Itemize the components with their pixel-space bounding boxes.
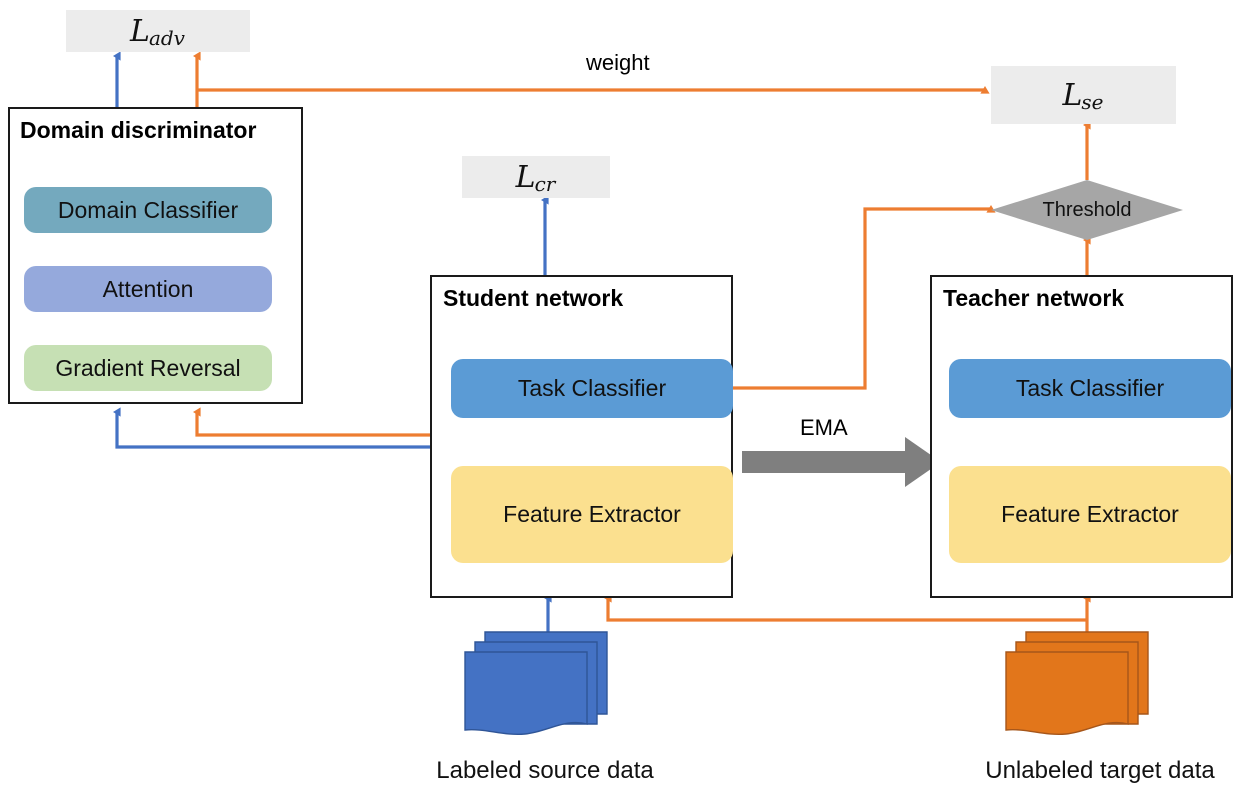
node-student-task-classifier-label: Task Classifier bbox=[518, 375, 666, 402]
architecture-diagram: Ladv Lcr Lse Domain discriminator Domain… bbox=[0, 0, 1252, 790]
unlabeled-target-data-label: Unlabeled target data bbox=[955, 757, 1245, 785]
node-gradient-reversal-label: Gradient Reversal bbox=[55, 355, 240, 382]
node-attention-label: Attention bbox=[103, 276, 194, 303]
node-attention[interactable]: Attention bbox=[24, 266, 272, 312]
source-data-icon bbox=[455, 628, 635, 738]
node-student-feature-extractor-label: Feature Extractor bbox=[503, 501, 681, 528]
loss-cr-box: Lcr bbox=[462, 156, 610, 198]
threshold-diamond[interactable]: Threshold bbox=[991, 180, 1183, 240]
loss-adv-box: Ladv bbox=[66, 10, 250, 52]
node-gradient-reversal[interactable]: Gradient Reversal bbox=[24, 345, 272, 391]
student-network-title: Student network bbox=[443, 285, 623, 312]
node-student-feature-extractor[interactable]: Feature Extractor bbox=[451, 466, 733, 563]
labeled-source-data-label: Labeled source data bbox=[405, 757, 685, 785]
target-data-icon bbox=[996, 628, 1176, 738]
loss-adv-subscript: adv bbox=[149, 26, 185, 50]
node-domain-classifier-label: Domain Classifier bbox=[58, 197, 238, 224]
node-domain-classifier[interactable]: Domain Classifier bbox=[24, 187, 272, 233]
unlabeled-target-data-stack bbox=[996, 628, 1176, 738]
domain-discriminator-title: Domain discriminator bbox=[20, 117, 256, 144]
node-student-task-classifier[interactable]: Task Classifier bbox=[451, 359, 733, 418]
arrow-target-data-to-student-orange bbox=[608, 598, 1087, 620]
loss-cr-symbol: L bbox=[516, 160, 536, 195]
ema-edge-label: EMA bbox=[800, 415, 848, 441]
loss-adv-symbol: L bbox=[130, 14, 150, 49]
loss-cr-subscript: cr bbox=[535, 172, 556, 196]
node-teacher-feature-extractor-label: Feature Extractor bbox=[1001, 501, 1179, 528]
teacher-network-title: Teacher network bbox=[943, 285, 1124, 312]
node-teacher-task-classifier-label: Task Classifier bbox=[1016, 375, 1164, 402]
loss-se-subscript: se bbox=[1081, 90, 1103, 114]
threshold-label: Threshold bbox=[1043, 199, 1132, 222]
node-teacher-feature-extractor[interactable]: Feature Extractor bbox=[949, 466, 1231, 563]
loss-se-box: Lse bbox=[991, 66, 1176, 124]
labeled-source-data-stack bbox=[455, 628, 635, 738]
node-teacher-task-classifier[interactable]: Task Classifier bbox=[949, 359, 1231, 418]
weight-edge-label: weight bbox=[586, 50, 650, 76]
ema-block-arrow bbox=[742, 437, 941, 487]
loss-se-symbol: L bbox=[1062, 78, 1082, 113]
